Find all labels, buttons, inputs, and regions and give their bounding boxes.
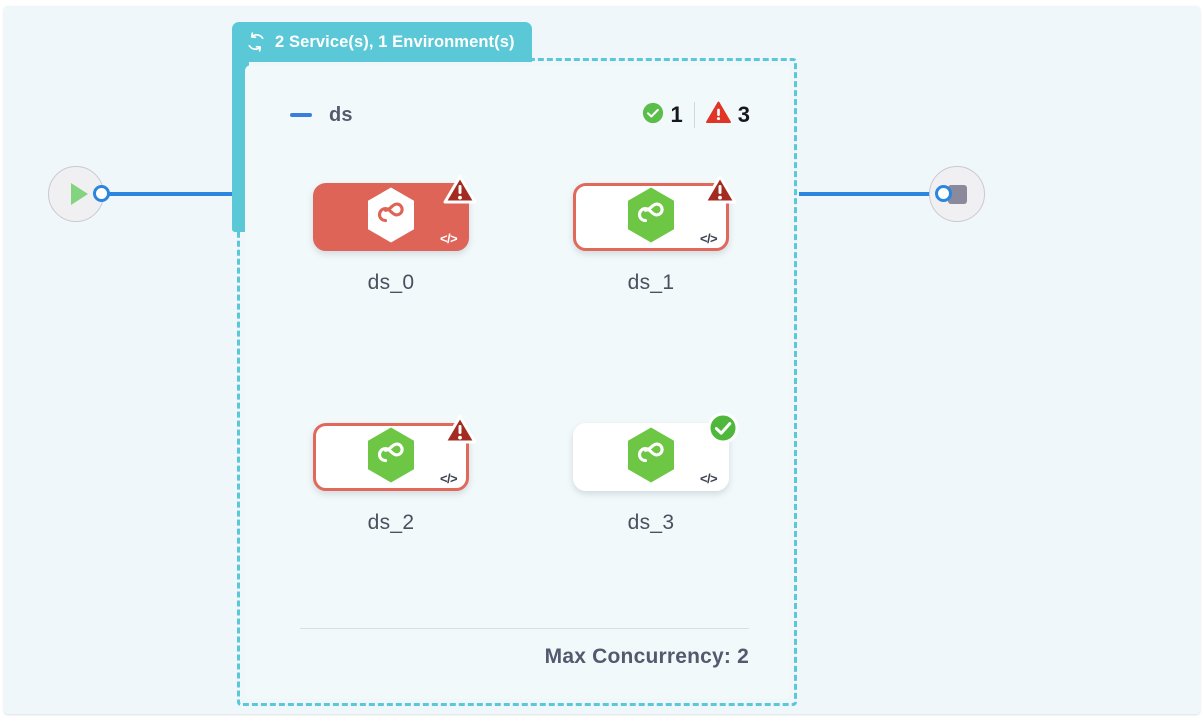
workflow-canvas: 2 Service(s), 1 Environment(s) ds 1 xyxy=(4,6,1200,714)
status-divider xyxy=(694,102,695,128)
status-error-count: 3 xyxy=(738,104,750,126)
connector-line-start xyxy=(104,192,240,196)
connector-line-end xyxy=(799,192,944,196)
code-glyph-icon: </> xyxy=(700,232,717,245)
service-hexagon-icon xyxy=(365,186,417,249)
code-glyph-icon: </> xyxy=(440,232,457,245)
check-circle-icon xyxy=(642,102,664,129)
start-node-output-port[interactable] xyxy=(93,185,110,202)
panel-divider xyxy=(300,628,749,629)
service-label: ds_0 xyxy=(313,271,469,295)
service-hexagon-icon xyxy=(625,186,677,249)
warning-triangle-icon[interactable] xyxy=(703,174,737,211)
service-label: ds_2 xyxy=(313,511,469,535)
service-card[interactable]: </> xyxy=(313,183,469,251)
code-glyph-icon: </> xyxy=(440,472,457,485)
warning-triangle-icon[interactable] xyxy=(443,414,477,451)
service-label: ds_1 xyxy=(573,271,729,295)
play-icon xyxy=(71,183,88,205)
group-name-label: ds xyxy=(329,104,353,127)
service-card[interactable]: </> xyxy=(313,423,469,491)
warning-triangle-icon xyxy=(706,101,731,129)
panel-header: ds 1 xyxy=(290,98,750,132)
service-node-ds_2[interactable]: </> ds_2 xyxy=(313,423,469,535)
service-card[interactable]: </> xyxy=(573,183,729,251)
status-error-chip[interactable]: 3 xyxy=(706,101,750,129)
service-node-ds_1[interactable]: </> ds_1 xyxy=(573,183,729,295)
warning-triangle-icon[interactable] xyxy=(443,174,477,211)
status-ok-count: 1 xyxy=(671,104,683,126)
max-concurrency-label: Max Concurrency: 2 xyxy=(300,645,749,669)
status-counts: 1 3 xyxy=(642,101,751,129)
service-label: ds_3 xyxy=(573,511,729,535)
collapse-dash-icon[interactable] xyxy=(290,113,312,117)
service-node-ds_0[interactable]: </> ds_0 xyxy=(313,183,469,295)
check-circle-icon[interactable] xyxy=(707,412,739,449)
service-node-ds_3[interactable]: </> ds_3 xyxy=(573,423,729,535)
service-group-tab[interactable]: 2 Service(s), 1 Environment(s) xyxy=(232,22,532,62)
code-glyph-icon: </> xyxy=(700,472,717,485)
service-card[interactable]: </> xyxy=(573,423,729,491)
service-hexagon-icon xyxy=(365,426,417,489)
service-hexagon-icon xyxy=(625,426,677,489)
status-ok-chip[interactable]: 1 xyxy=(642,102,683,129)
service-group-tab-label: 2 Service(s), 1 Environment(s) xyxy=(275,33,515,52)
end-node-input-port[interactable] xyxy=(935,185,952,202)
refresh-cycle-icon xyxy=(246,32,266,52)
service-group-panel: ds 1 xyxy=(245,65,790,699)
